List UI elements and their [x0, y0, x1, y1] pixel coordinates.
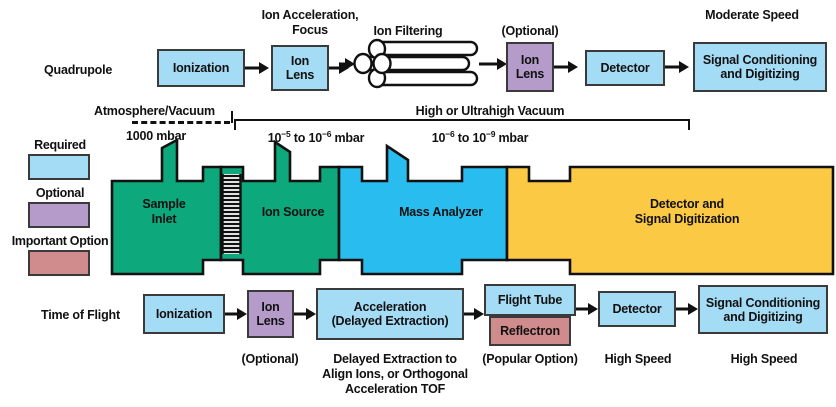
- arrow-tof-3: [464, 306, 486, 322]
- quad-block-ionization-label: Ionization: [173, 61, 229, 75]
- tof-de-line3: Acceleration TOF: [320, 382, 470, 397]
- tof-de-line1: Delayed Extraction to: [320, 352, 470, 367]
- tof-block-acceleration[interactable]: Acceleration (Delayed Extraction): [316, 288, 464, 340]
- arrow-quad-5: [554, 59, 580, 75]
- row-label-time-of-flight: Time of Flight: [41, 308, 120, 322]
- label-atmosphere-vacuum: Atmosphere/Vacuum: [94, 104, 240, 119]
- stage-label-mass-analyzer: Mass Analyzer: [373, 205, 509, 220]
- quad-block-ion-lens-line1: Ion: [291, 54, 309, 68]
- tof-caption-high-speed-signal: High Speed: [720, 352, 808, 367]
- stage-label-sample-inlet: Sample Inlet: [118, 197, 210, 227]
- tof-signal-line1: Signal Conditioning: [706, 296, 820, 310]
- quad-opt-lens-line1: Ion: [521, 53, 539, 67]
- caption-moderate-speed: Moderate Speed: [672, 8, 832, 23]
- row-label-quadrupole: Quadrupole: [44, 63, 112, 77]
- tof-block-reflectron-label: Reflectron: [500, 324, 560, 338]
- tof-block-ion-lens-label: Ion Lens: [256, 300, 284, 328]
- legend-swatch-required: [28, 154, 90, 180]
- arrow-quad-6: [665, 59, 691, 75]
- tof-block-detector[interactable]: Detector: [598, 291, 676, 327]
- tof-caption-delayed-extraction: Delayed Extraction to Align Ions, or Ort…: [320, 352, 470, 396]
- tof-block-acceleration-label: Acceleration (Delayed Extraction): [332, 300, 449, 328]
- caption-ion-filtering: Ion Filtering: [338, 24, 478, 39]
- tof-lens-line1: Ion: [261, 300, 279, 314]
- vacuum-bracket-line: [234, 119, 690, 121]
- atmosphere-dashed-line: [132, 121, 230, 124]
- p3-sup1: −6: [445, 129, 454, 139]
- quad-block-ion-lens-optional[interactable]: Ion Lens: [506, 42, 554, 92]
- tof-de-line2: Align Ions, or Orthogonal: [320, 367, 470, 382]
- arrow-tof-5: [676, 301, 700, 317]
- legend-label-important-option: Important Option: [0, 234, 120, 248]
- vacuum-bracket-tick-right: [688, 119, 690, 130]
- tof-block-reflectron[interactable]: Reflectron: [489, 316, 571, 346]
- arrow-quad-1: [245, 60, 271, 76]
- quad-block-ion-lens-label: Ion Lens: [286, 54, 314, 82]
- membrane-hatch: [222, 174, 241, 254]
- tof-block-ion-lens[interactable]: Ion Lens: [247, 290, 294, 338]
- quad-block-ion-lens-optional-label: Ion Lens: [516, 53, 544, 81]
- tof-block-detector-label: Detector: [612, 302, 661, 316]
- stage-sample-inlet-line1: Sample: [118, 197, 210, 212]
- stage-sample-inlet-line2: Inlet: [118, 212, 210, 227]
- label-high-vacuum: High or Ultrahigh Vacuum: [390, 104, 590, 119]
- legend-swatch-important-option: [28, 250, 90, 276]
- quad-block-detector[interactable]: Detector: [585, 50, 665, 86]
- atmosphere-bracket-tick: [231, 111, 233, 123]
- stage-detector-line1: Detector and: [607, 197, 767, 212]
- quad-block-signal-conditioning-label: Signal Conditioning and Digitizing: [703, 53, 817, 81]
- quad-signal-line2: and Digitizing: [720, 67, 799, 81]
- quadrupole-rods-icon: [351, 40, 491, 90]
- arrow-quad-3: [339, 56, 357, 72]
- quad-signal-line1: Signal Conditioning: [703, 53, 817, 67]
- stage-label-detector-digitization: Detector and Signal Digitization: [607, 197, 767, 227]
- legend-label-required: Required: [14, 138, 106, 152]
- diagram-canvas: Quadrupole Ion Acceleration, Focus Ion F…: [0, 0, 836, 407]
- arrow-tof-4: [576, 301, 600, 317]
- quad-opt-lens-line2: Lens: [516, 67, 544, 81]
- tof-accel-line1: Acceleration: [354, 300, 427, 314]
- arrow-tof-2: [294, 306, 318, 322]
- tof-block-ionization[interactable]: Ionization: [143, 294, 225, 334]
- stage-detector-line2: Signal Digitization: [607, 212, 767, 227]
- stage-label-ion-source: Ion Source: [243, 205, 343, 220]
- p2-sup1: −5: [281, 129, 290, 139]
- quad-block-ion-lens-line2: Lens: [286, 68, 314, 82]
- tof-caption-popular-option: (Popular Option): [478, 352, 582, 367]
- tof-block-signal-conditioning[interactable]: Signal Conditioning and Digitizing: [698, 285, 828, 334]
- tof-caption-high-speed-detector: High Speed: [600, 352, 676, 367]
- arrow-quad-4: [479, 56, 509, 72]
- caption-optional-quad: (Optional): [470, 24, 590, 39]
- tof-lens-line2: Lens: [256, 314, 284, 328]
- quad-block-ionization[interactable]: Ionization: [157, 49, 245, 87]
- quad-block-detector-label: Detector: [600, 61, 649, 75]
- p3-sup2: −9: [486, 129, 495, 139]
- legend-swatch-optional: [28, 202, 90, 228]
- arrow-tof-1: [225, 306, 249, 322]
- quad-block-signal-conditioning[interactable]: Signal Conditioning and Digitizing: [693, 42, 827, 92]
- tof-block-ionization-label: Ionization: [156, 307, 212, 321]
- legend-label-optional: Optional: [14, 186, 106, 200]
- tof-accel-line2: (Delayed Extraction): [332, 314, 449, 328]
- tof-block-flight-tube[interactable]: Flight Tube: [484, 284, 576, 316]
- caption-ion-acceleration-line1: Ion Acceleration,: [230, 8, 390, 23]
- tof-block-flight-tube-label: Flight Tube: [498, 293, 562, 307]
- tof-block-signal-conditioning-label: Signal Conditioning and Digitizing: [706, 296, 820, 324]
- tof-caption-optional: (Optional): [228, 352, 312, 367]
- tof-signal-line2: and Digitizing: [723, 310, 802, 324]
- p2-sup2: −6: [322, 129, 331, 139]
- quad-block-ion-lens[interactable]: Ion Lens: [271, 45, 329, 91]
